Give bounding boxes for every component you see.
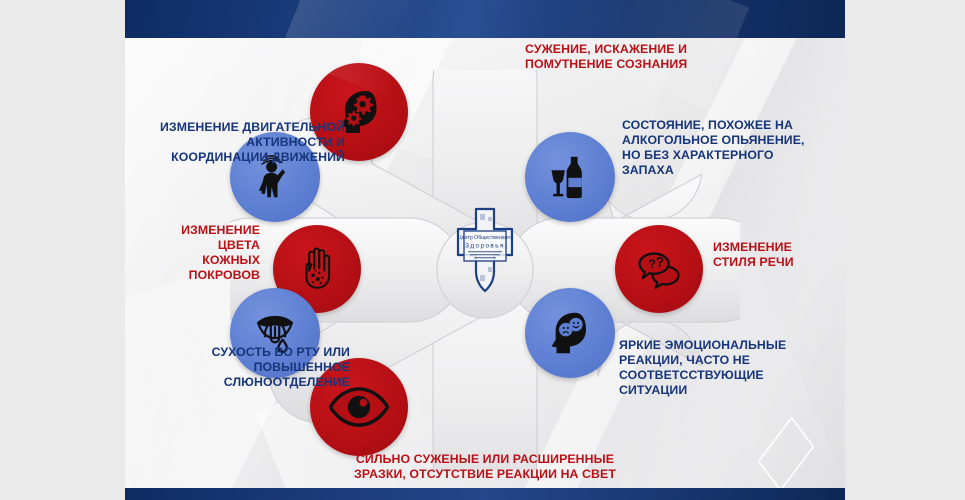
center-logo: Центр Общественного Здоровья bbox=[455, 205, 515, 295]
label-dry-mouth: СУХОСТЬ ВО РТУ ИЛИ ПОВЫШЕННОЕ СЛЮНООТДЕЛ… bbox=[160, 345, 350, 390]
header-band bbox=[125, 0, 845, 38]
bottle-and-glass-icon bbox=[543, 150, 597, 204]
letterbox-right bbox=[845, 0, 965, 500]
bubble-speech-style[interactable]: ? ? bbox=[615, 225, 703, 313]
svg-text:?: ? bbox=[648, 257, 655, 271]
hand-with-rash-icon bbox=[292, 244, 342, 294]
bubble-emotional-reactions[interactable] bbox=[525, 288, 615, 378]
label-speech-style: ИЗМЕНЕНИЕ СТИЛЯ РЕЧИ bbox=[713, 240, 843, 270]
logo-line1: Центр Общественного bbox=[458, 235, 512, 241]
label-pupils: СИЛЬНО СУЖЕНЫЕ ИЛИ РАСШИРЕННЫЕ ЗРАЗКИ, О… bbox=[235, 452, 735, 482]
letterbox-left bbox=[0, 0, 125, 500]
label-skin-color: ИЗМЕНЕНИЕ ЦВЕТА КОЖНЫХ ПОКРОВОВ bbox=[135, 223, 260, 283]
speech-bubbles-question-icon: ? ? bbox=[633, 243, 685, 295]
infographic-root: ВНЕШНИЕ ПРИЗНАКИ УПОТРЕБЛЕНИЯ НАРКОТИКОВ bbox=[0, 0, 965, 500]
label-emotional-reactions: ЯРКИЕ ЭМОЦИОНАЛЬНЫЕ РЕАКЦИИ, ЧАСТО НЕ СО… bbox=[619, 338, 819, 398]
label-motor-activity: ИЗМЕНЕНИЕ ДВИГАТЕЛЬНОЙ АКТИВНОСТИ И КООР… bbox=[135, 120, 345, 165]
label-intoxication: СОСТОЯНИЕ, ПОХОЖЕЕ НА АЛКОГОЛЬНОЕ ОПЬЯНЕ… bbox=[622, 118, 837, 178]
bubble-intoxication[interactable] bbox=[525, 132, 615, 222]
infographic-stage: ВНЕШНИЕ ПРИЗНАКИ УПОТРЕБЛЕНИЯ НАРКОТИКОВ bbox=[125, 0, 845, 500]
footer-band bbox=[125, 488, 845, 500]
svg-text:?: ? bbox=[656, 254, 664, 270]
logo-line2: Здоровья bbox=[465, 243, 505, 250]
label-consciousness: СУЖЕНИЕ, ИСКАЖЕНИЕ И ПОМУТНЕНИЕ СОЗНАНИЯ bbox=[525, 42, 755, 72]
eye-icon bbox=[328, 383, 390, 431]
diamond-outline-decoration bbox=[757, 416, 814, 492]
head-with-emotions-icon bbox=[543, 306, 597, 360]
